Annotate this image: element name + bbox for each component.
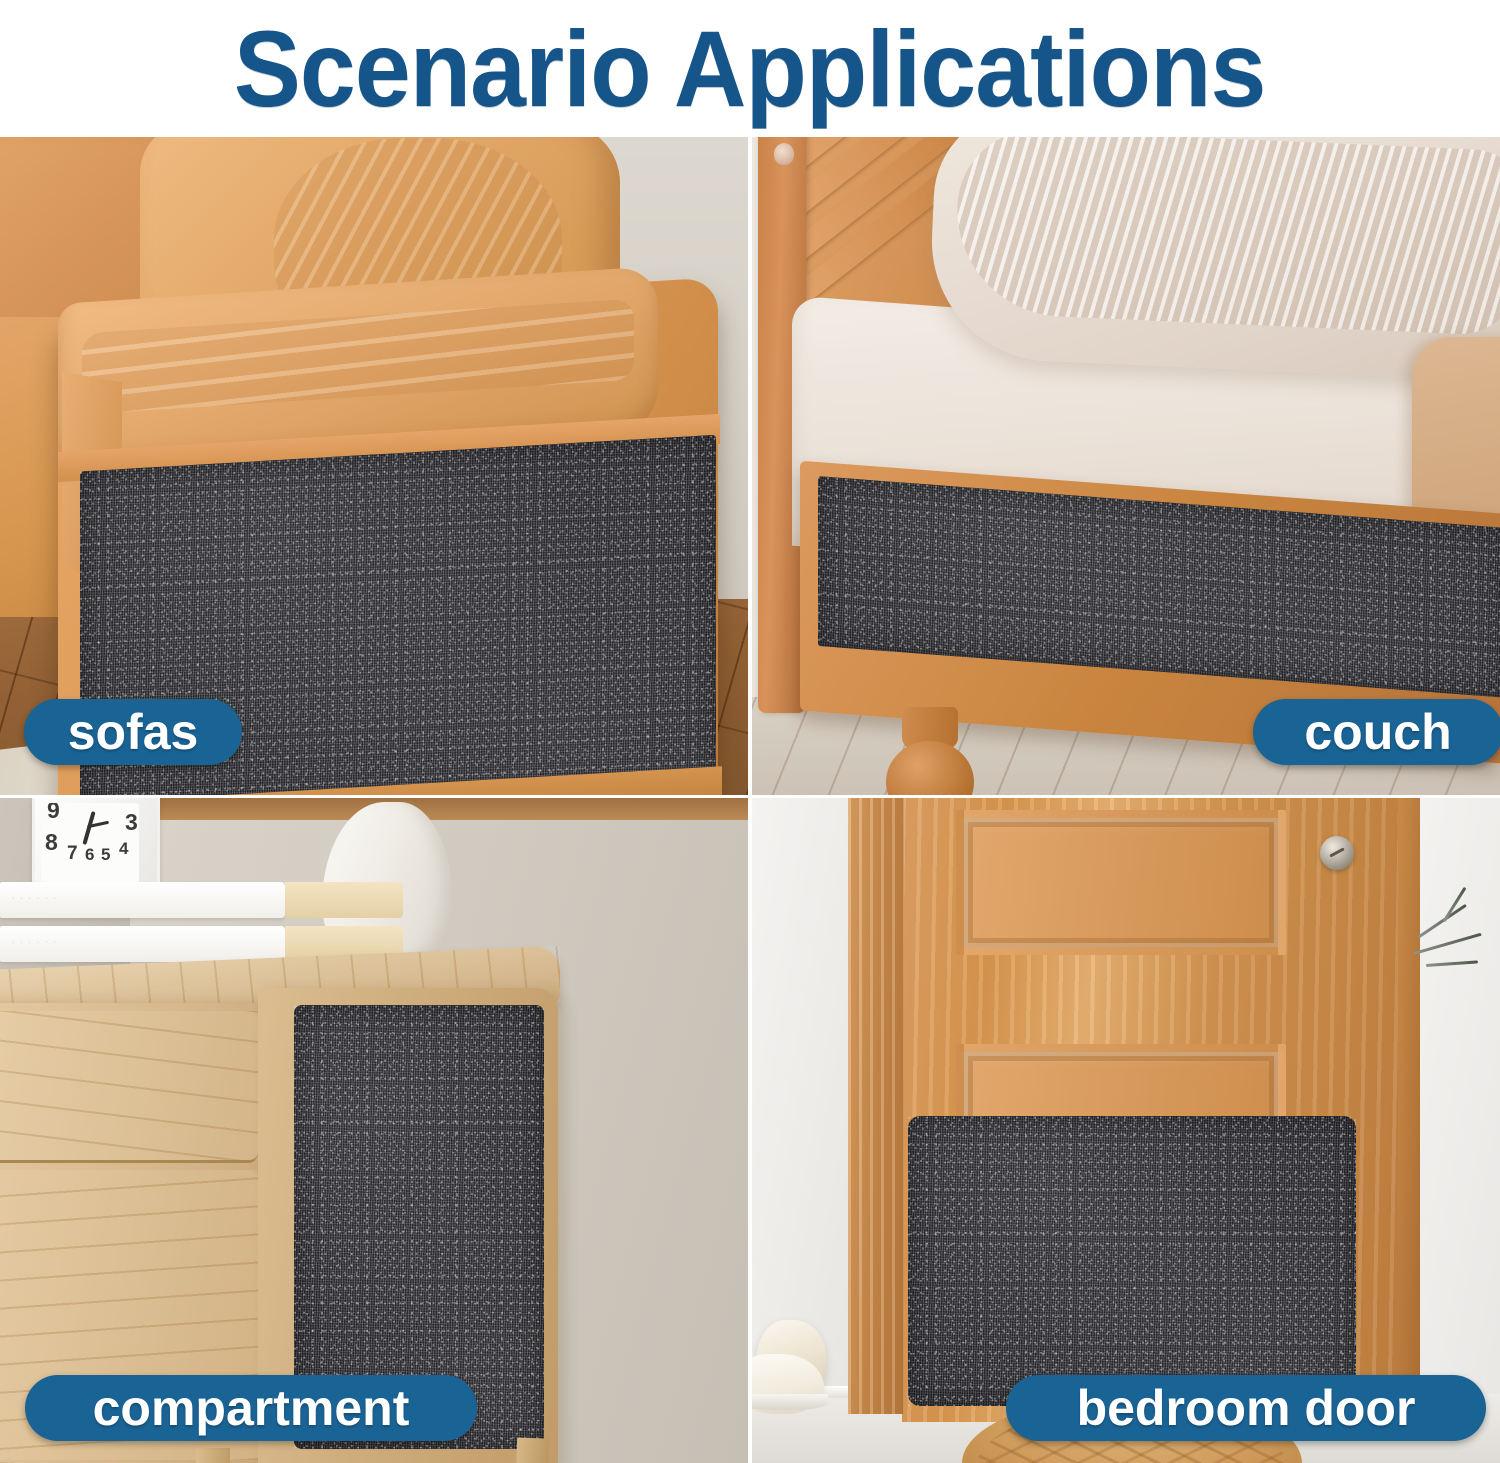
book-lower: · · · · · · <box>0 926 285 962</box>
clock-face: 9 8 7 6 5 4 3 <box>41 803 139 889</box>
page-title: Scenario Applications <box>234 15 1266 123</box>
product-infographic: Scenario Applications <box>0 0 1500 1463</box>
clock-number: 7 <box>67 843 78 865</box>
door-frame-left <box>848 798 904 1414</box>
label-badge-sofas: sofas <box>24 699 242 765</box>
panel-sofas[interactable] <box>0 137 748 795</box>
panel-compartment[interactable]: 9 8 7 6 5 4 3 · · · · · · <box>0 798 748 1463</box>
grid-divider-vertical <box>748 137 752 1463</box>
clock-number: 3 <box>125 809 138 836</box>
plant-leaf <box>1417 904 1467 939</box>
clock-number: 6 <box>85 845 94 865</box>
book-spine-text: · · · · · · <box>12 939 58 946</box>
door-edge <box>1398 798 1420 1418</box>
plant-branch-icon <box>1392 906 1500 1026</box>
book-page-edge <box>285 882 403 918</box>
label-badge-couch: couch <box>1253 699 1500 765</box>
scenario-photo-grid: 9 8 7 6 5 4 3 · · · · · · <box>0 137 1500 1463</box>
clock-number: 9 <box>47 803 60 824</box>
book-upper: · · · · · · <box>0 882 285 918</box>
nightstand-drawer-upper[interactable] <box>0 1011 258 1163</box>
label-badge-bedroom-door: bedroom door <box>1006 1375 1486 1441</box>
clock-number: 5 <box>101 845 110 865</box>
panel-couch[interactable] <box>752 137 1500 795</box>
door-screw-icon <box>1320 836 1354 870</box>
book-stack: · · · · · · · · · · · · <box>0 882 285 966</box>
nightstand-leg-rear <box>515 1437 549 1463</box>
door-panel-upper <box>956 810 1286 955</box>
leg-ball <box>886 741 974 795</box>
clock-number: 4 <box>119 839 128 859</box>
clock-hand-minute <box>82 811 95 845</box>
book-spine-text: · · · · · · <box>12 895 58 902</box>
sneaker-sole <box>752 1394 828 1410</box>
striped-pillow <box>927 137 1500 382</box>
plant-leaf <box>1426 960 1478 967</box>
plant-leaf <box>1414 933 1482 955</box>
label-badge-compartment: compartment <box>25 1375 477 1441</box>
grid-divider-horizontal <box>0 795 1500 798</box>
turned-bed-leg <box>880 707 980 795</box>
clock-number: 8 <box>45 829 58 856</box>
nightstand-leg-front <box>196 1448 230 1463</box>
header-banner: Scenario Applications <box>0 0 1500 137</box>
bedpost-knob <box>774 143 794 165</box>
carpet-scratch-mat-door <box>908 1116 1356 1406</box>
panel-bedroom-door[interactable] <box>752 798 1500 1463</box>
